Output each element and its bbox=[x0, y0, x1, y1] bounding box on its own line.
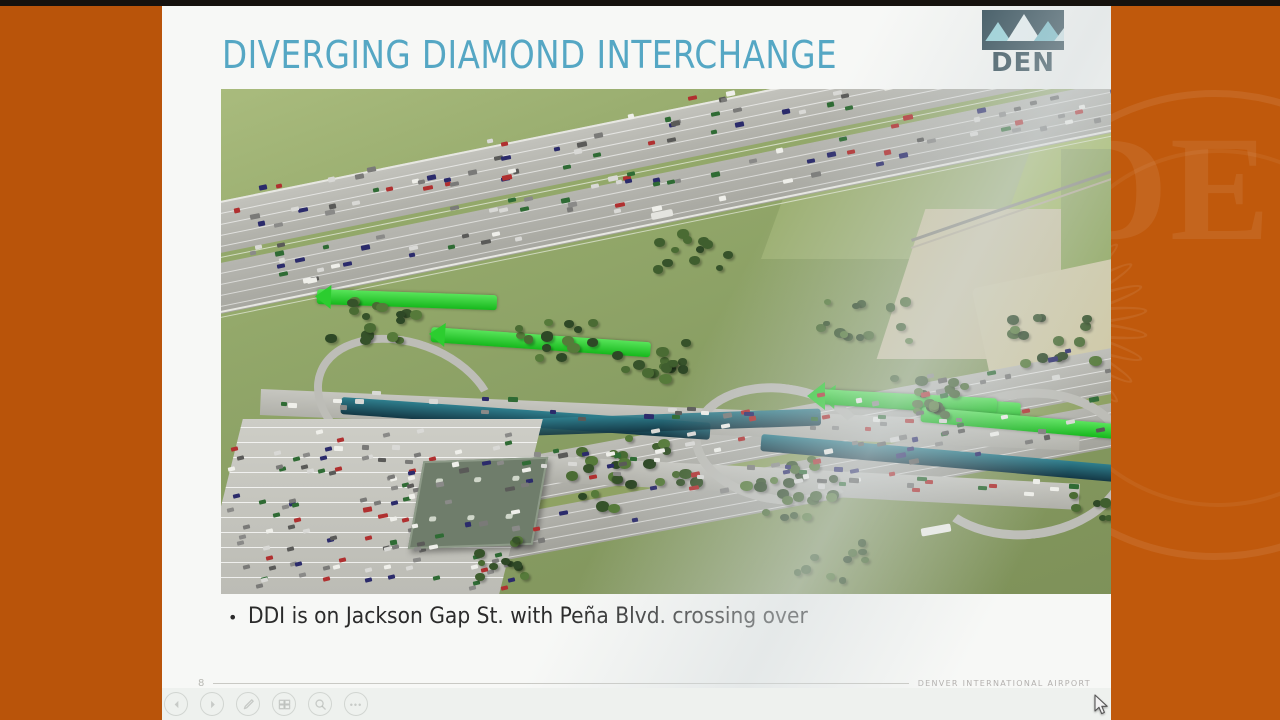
next-slide-button[interactable] bbox=[200, 692, 224, 716]
tree bbox=[608, 504, 620, 513]
tree bbox=[826, 573, 834, 580]
tree bbox=[360, 336, 371, 345]
tree bbox=[347, 299, 358, 308]
tree bbox=[929, 401, 939, 409]
backdrop-watermark-panel: DE bbox=[1110, 0, 1280, 720]
tree bbox=[612, 351, 623, 360]
tree bbox=[591, 490, 600, 497]
vehicle bbox=[719, 195, 727, 201]
tree bbox=[515, 325, 523, 332]
vehicle bbox=[533, 526, 540, 531]
vehicle bbox=[907, 483, 914, 488]
tree bbox=[960, 383, 969, 390]
parked-car bbox=[389, 516, 397, 522]
tree bbox=[678, 365, 688, 373]
more-options-button[interactable]: ••• bbox=[344, 692, 368, 716]
tree bbox=[1018, 331, 1029, 340]
vehicle bbox=[632, 517, 639, 522]
tree bbox=[556, 353, 567, 362]
bullet-marker: • bbox=[228, 610, 237, 626]
previous-slide-button[interactable] bbox=[164, 692, 188, 716]
vehicle bbox=[630, 457, 637, 462]
vehicle bbox=[998, 111, 1005, 117]
vehicle bbox=[257, 220, 265, 226]
tree bbox=[839, 577, 846, 583]
tree bbox=[567, 343, 579, 353]
vehicle bbox=[811, 416, 818, 420]
tree bbox=[1007, 315, 1019, 325]
vehicle bbox=[817, 479, 827, 484]
tree bbox=[542, 344, 551, 351]
vehicle bbox=[644, 414, 654, 419]
vehicle bbox=[1109, 89, 1111, 94]
tree bbox=[387, 332, 398, 341]
den-roof-icon bbox=[982, 10, 1064, 50]
vehicle bbox=[747, 465, 755, 470]
tree bbox=[770, 477, 778, 484]
tree bbox=[948, 378, 959, 387]
vehicle bbox=[832, 426, 839, 430]
tree bbox=[1037, 353, 1049, 362]
tree bbox=[949, 390, 960, 399]
vehicle bbox=[1050, 487, 1059, 491]
tree bbox=[676, 479, 685, 486]
tree bbox=[683, 236, 692, 244]
bullet-list-item: • DDI is on Jackson Gap St. with Peña Bl… bbox=[228, 604, 857, 629]
slide-canvas[interactable]: DIVERGING DIAMOND INTERCHANGE DEN • DDI … bbox=[162, 6, 1111, 688]
vehicle bbox=[613, 471, 621, 476]
tree bbox=[915, 376, 928, 387]
slide-footer: 8 DENVER INTERNATIONAL AIRPORT bbox=[198, 678, 1091, 688]
vehicle bbox=[1093, 117, 1101, 123]
tree bbox=[578, 493, 586, 500]
highlight-arrow-head bbox=[315, 284, 332, 309]
tree bbox=[396, 317, 405, 324]
tree bbox=[689, 256, 700, 265]
caret-right-icon bbox=[207, 699, 218, 710]
caret-left-icon bbox=[171, 699, 182, 710]
vehicle bbox=[445, 499, 452, 504]
tree bbox=[810, 491, 822, 501]
vehicle bbox=[737, 436, 744, 441]
vehicle bbox=[834, 467, 843, 472]
screen: DE DIVERGING DIAMOND INTERCHANGE DEN • D… bbox=[0, 0, 1280, 720]
tree bbox=[524, 335, 534, 343]
vehicle bbox=[550, 409, 556, 413]
footer-organization: DENVER INTERNATIONAL AIRPORT bbox=[918, 679, 1091, 688]
vehicle bbox=[799, 470, 807, 475]
vehicle bbox=[332, 399, 341, 404]
vehicle bbox=[1052, 374, 1061, 380]
tree bbox=[810, 554, 819, 561]
watermark-letters: DE bbox=[1110, 120, 1272, 258]
tree bbox=[840, 331, 848, 337]
vehicle bbox=[378, 457, 386, 462]
tree bbox=[376, 303, 387, 312]
vehicle bbox=[540, 464, 546, 468]
highlight-arrow-head bbox=[428, 322, 446, 347]
tree bbox=[780, 514, 789, 521]
vehicle bbox=[534, 452, 541, 457]
pen-icon bbox=[242, 698, 255, 711]
tree bbox=[489, 563, 497, 570]
bullet-text: DDI is on Jackson Gap St. with Peña Blvd… bbox=[248, 604, 808, 629]
slide-title: DIVERGING DIAMOND INTERCHANGE bbox=[222, 33, 837, 77]
vehicle bbox=[362, 445, 369, 450]
tree bbox=[826, 493, 836, 502]
vehicle bbox=[880, 422, 888, 426]
vehicle bbox=[482, 396, 489, 400]
vehicle bbox=[654, 458, 660, 463]
tree bbox=[1053, 336, 1065, 346]
vehicle bbox=[701, 410, 710, 414]
slide-grid-icon bbox=[278, 698, 291, 711]
tree bbox=[782, 496, 793, 505]
vehicle bbox=[389, 539, 397, 545]
vehicle bbox=[672, 414, 680, 419]
tree bbox=[1074, 337, 1086, 346]
vehicle bbox=[372, 391, 381, 395]
ellipsis-icon: ••• bbox=[350, 695, 362, 713]
tree bbox=[1020, 359, 1031, 368]
pen-tool-button[interactable] bbox=[236, 692, 260, 716]
tree bbox=[794, 569, 801, 575]
vehicle bbox=[956, 418, 962, 422]
tree bbox=[896, 323, 905, 331]
vehicle bbox=[281, 402, 288, 406]
tree bbox=[364, 323, 376, 333]
tree bbox=[513, 561, 522, 569]
tree bbox=[716, 265, 723, 271]
tree bbox=[654, 238, 664, 247]
vehicle bbox=[287, 403, 296, 408]
vehicle bbox=[744, 412, 754, 416]
vehicle bbox=[821, 414, 829, 419]
zoom-slide-button[interactable] bbox=[308, 692, 332, 716]
vehicle bbox=[578, 416, 587, 420]
vehicle bbox=[429, 399, 438, 404]
vehicle bbox=[978, 486, 987, 490]
tree bbox=[541, 331, 554, 341]
tree bbox=[886, 303, 896, 311]
tree bbox=[474, 549, 485, 558]
tree bbox=[512, 537, 520, 543]
slideshow-control-bar[interactable]: ••• bbox=[162, 688, 1111, 720]
tree bbox=[1100, 498, 1111, 507]
tree bbox=[642, 368, 654, 378]
vehicle bbox=[865, 427, 871, 431]
vehicle bbox=[1032, 479, 1039, 484]
footer-divider bbox=[213, 683, 908, 684]
vehicle bbox=[917, 477, 927, 482]
tree bbox=[656, 347, 668, 357]
tree bbox=[940, 411, 950, 419]
tree bbox=[362, 313, 370, 320]
tree bbox=[801, 565, 811, 573]
tree bbox=[410, 310, 422, 320]
magnifier-icon bbox=[314, 698, 327, 711]
tree bbox=[596, 501, 609, 511]
vehicle bbox=[697, 475, 704, 480]
vehicle bbox=[839, 482, 846, 486]
tree bbox=[671, 247, 678, 253]
aerial-interchange-image bbox=[221, 89, 1111, 594]
tree bbox=[1105, 515, 1111, 521]
vehicle bbox=[452, 461, 460, 467]
tree bbox=[793, 492, 804, 501]
vehicle bbox=[487, 138, 494, 143]
tree bbox=[564, 320, 574, 328]
tree bbox=[662, 259, 672, 267]
tree bbox=[1033, 314, 1042, 322]
vehicle bbox=[334, 446, 343, 451]
tree bbox=[1089, 356, 1101, 366]
tree bbox=[762, 509, 770, 516]
tree bbox=[823, 321, 830, 327]
tree bbox=[824, 299, 831, 305]
vehicle bbox=[1038, 429, 1046, 434]
den-logo: DEN bbox=[982, 10, 1064, 72]
vehicle bbox=[392, 445, 401, 450]
tree bbox=[501, 558, 509, 565]
tree bbox=[659, 374, 671, 384]
tree bbox=[587, 338, 598, 347]
tree bbox=[863, 331, 874, 340]
tree bbox=[740, 481, 752, 491]
vehicle bbox=[340, 405, 347, 410]
tree bbox=[625, 435, 634, 442]
page-number: 8 bbox=[198, 678, 204, 688]
vehicle bbox=[355, 399, 364, 404]
vehicle bbox=[481, 410, 489, 414]
tree bbox=[625, 480, 637, 490]
vehicle bbox=[818, 484, 826, 489]
tree bbox=[900, 297, 911, 306]
vehicle bbox=[858, 441, 865, 446]
tree bbox=[858, 549, 867, 556]
vehicle bbox=[1069, 484, 1079, 489]
tree bbox=[1082, 315, 1091, 323]
mouse-pointer-icon bbox=[1094, 694, 1110, 715]
tree bbox=[890, 375, 899, 382]
vehicle bbox=[855, 397, 862, 403]
tree bbox=[325, 334, 336, 343]
tree bbox=[1069, 492, 1078, 499]
all-slides-button[interactable] bbox=[272, 692, 296, 716]
vehicle bbox=[384, 564, 391, 569]
tree bbox=[912, 400, 923, 409]
vehicle bbox=[877, 414, 885, 418]
vehicle bbox=[849, 478, 859, 483]
den-wordmark: DEN bbox=[982, 51, 1064, 75]
tree bbox=[583, 464, 593, 473]
tree bbox=[1010, 326, 1020, 334]
tree bbox=[681, 339, 690, 347]
vehicle bbox=[508, 397, 518, 402]
vehicle bbox=[1105, 368, 1111, 373]
tree bbox=[702, 240, 714, 250]
tree bbox=[858, 539, 867, 546]
tree bbox=[520, 572, 529, 580]
tree bbox=[754, 482, 767, 492]
